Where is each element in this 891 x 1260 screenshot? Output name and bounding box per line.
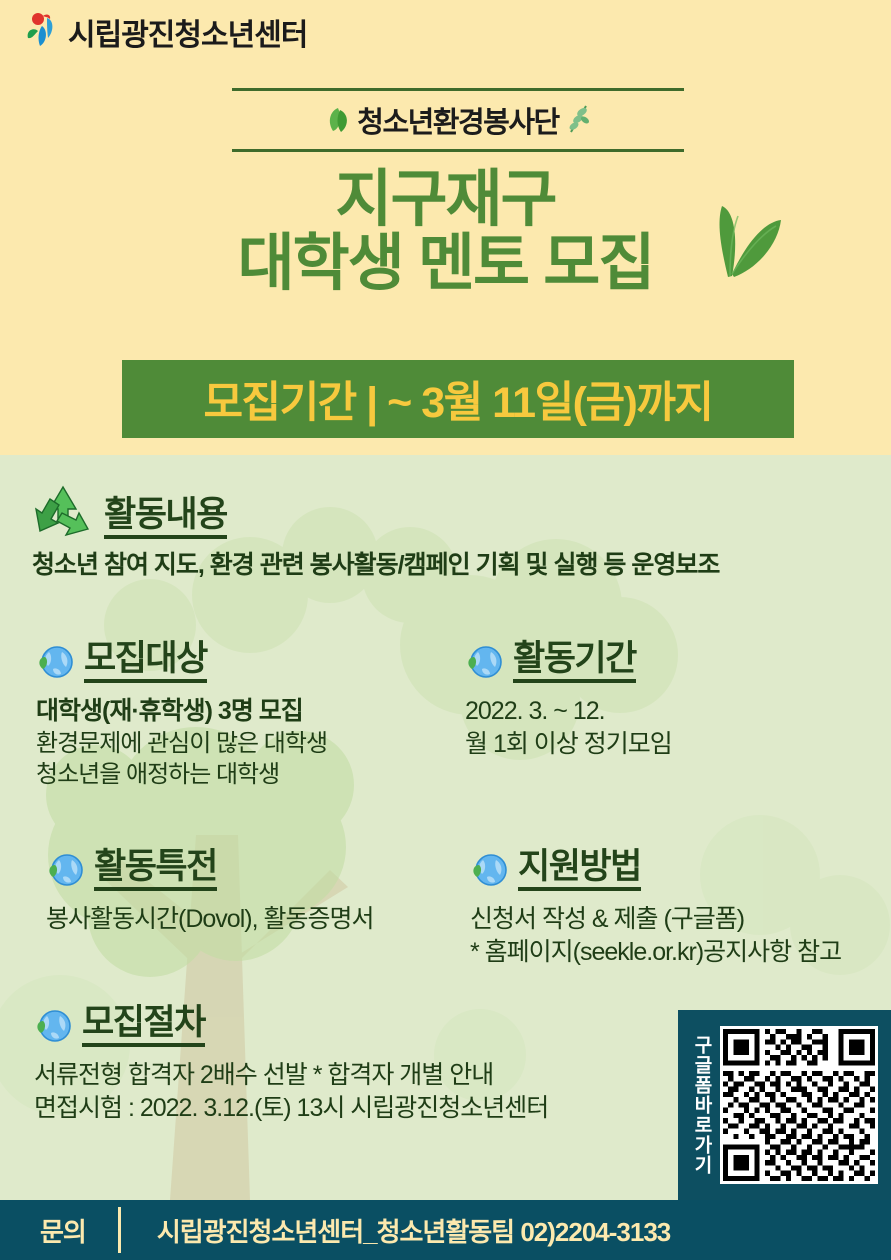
qr-label: 구글폼바로가기 <box>688 1020 714 1190</box>
section-body: 대학생(재·휴학생) 3명 모집 환경문제에 관심이 많은 대학생 청소년을 애… <box>36 695 327 791</box>
contact-label: 문의 <box>40 1212 86 1249</box>
section-body: 2022. 3. ~ 12. 월 1회 이상 정기모임 <box>465 695 672 761</box>
section-title: 활동기간 <box>513 641 636 683</box>
section-selection-process: 모집절차 서류전형 합격자 2배수 선발 * 합격자 개별 안내 면접시험 : … <box>34 1005 548 1125</box>
earth-leaf-icon <box>34 1007 72 1045</box>
section-line: 면접시험 : 2022. 3.12.(토) 13시 시립광진청소년센터 <box>34 1092 548 1125</box>
section-activity-period: 활동기간 2022. 3. ~ 12. 월 1회 이상 정기모임 <box>465 641 672 761</box>
section-body: 신청서 작성 & 제출 (구글폼) * 홈페이지(seekle.or.kr)공지… <box>470 903 841 969</box>
section-line: 월 1회 이상 정기모임 <box>465 728 672 761</box>
qr-code-icon[interactable] <box>720 1026 878 1184</box>
section-line: 대학생(재·휴학생) 3명 모집 <box>36 695 327 728</box>
branch-leaf-icon <box>563 104 591 136</box>
section-benefits: 활동특전 봉사활동시간(Dovol), 활동증명서 <box>46 849 373 936</box>
organization-logo: 시립광진청소년센터 <box>14 8 307 56</box>
qr-code-box[interactable]: 구글폼바로가기 <box>678 1010 891 1200</box>
footer-divider <box>118 1207 121 1253</box>
section-header: 모집대상 <box>36 641 327 683</box>
section-header: 활동기간 <box>465 641 672 683</box>
subtitle-text: 청소년환경봉사단 <box>357 99 558 141</box>
section-line: * 홈페이지(seekle.or.kr)공지사항 참고 <box>470 936 841 969</box>
section-activity-content: 활동내용 청소년 참여 지도, 환경 관련 봉사활동/캠페인 기획 및 실행 등… <box>32 483 719 582</box>
person-logo-icon <box>14 8 62 56</box>
subtitle-banner: 청소년환경봉사단 <box>232 88 684 152</box>
contact-info: 시립광진청소년센터_청소년활동팀 02)2204-3133 <box>157 1212 670 1249</box>
section-title: 모집절차 <box>82 1005 205 1047</box>
section-header: 활동특전 <box>46 849 373 891</box>
section-line: 2022. 3. ~ 12. <box>465 695 672 728</box>
section-line: 봉사활동시간(Dovol), 활동증명서 <box>46 903 373 936</box>
section-header: 활동내용 <box>32 483 719 539</box>
section-title: 활동특전 <box>94 849 217 891</box>
recruitment-period-text: 모집기간 | ~ 3월 11일(금)까지 <box>204 368 713 430</box>
section-header: 지원방법 <box>470 849 841 891</box>
organization-name: 시립광진청소년센터 <box>68 10 307 54</box>
earth-leaf-icon <box>36 643 74 681</box>
section-header: 모집절차 <box>34 1005 548 1047</box>
earth-leaf-icon <box>470 851 508 889</box>
section-title: 지원방법 <box>518 849 641 891</box>
footer-bar: 문의 시립광진청소년센터_청소년활동팀 02)2204-3133 <box>0 1200 891 1260</box>
poster-root: 시립광진청소년센터 청소년환경봉사단 <box>0 0 891 1260</box>
section-line: 환경문제에 관심이 많은 대학생 <box>36 728 327 760</box>
recruitment-period-banner: 모집기간 | ~ 3월 11일(금)까지 <box>122 360 794 438</box>
section-title: 모집대상 <box>84 641 207 683</box>
recycle-icon <box>32 483 94 539</box>
section-how-to-apply: 지원방법 신청서 작성 & 제출 (구글폼) * 홈페이지(seekle.or.… <box>470 849 841 969</box>
section-line: 서류전형 합격자 2배수 선발 * 합격자 개별 안내 <box>34 1059 548 1092</box>
earth-leaf-icon <box>46 851 84 889</box>
section-line: 신청서 작성 & 제출 (구글폼) <box>470 903 841 936</box>
sprout-leaves-icon <box>686 182 782 292</box>
section-title: 활동내용 <box>104 497 227 539</box>
section-line: 청소년 참여 지도, 환경 관련 봉사활동/캠페인 기획 및 실행 등 운영보조 <box>32 549 719 582</box>
section-eligibility: 모집대상 대학생(재·휴학생) 3명 모집 환경문제에 관심이 많은 대학생 청… <box>36 641 327 791</box>
leaf-icon <box>325 105 353 135</box>
section-body: 봉사활동시간(Dovol), 활동증명서 <box>46 903 373 936</box>
section-body: 청소년 참여 지도, 환경 관련 봉사활동/캠페인 기획 및 실행 등 운영보조 <box>32 549 719 582</box>
section-body: 서류전형 합격자 2배수 선발 * 합격자 개별 안내 면접시험 : 2022.… <box>34 1059 548 1125</box>
poster-title: 지구재구 대학생 멘토 모집 <box>0 168 891 297</box>
section-line: 청소년을 애정하는 대학생 <box>36 759 327 791</box>
earth-leaf-icon <box>465 643 503 681</box>
